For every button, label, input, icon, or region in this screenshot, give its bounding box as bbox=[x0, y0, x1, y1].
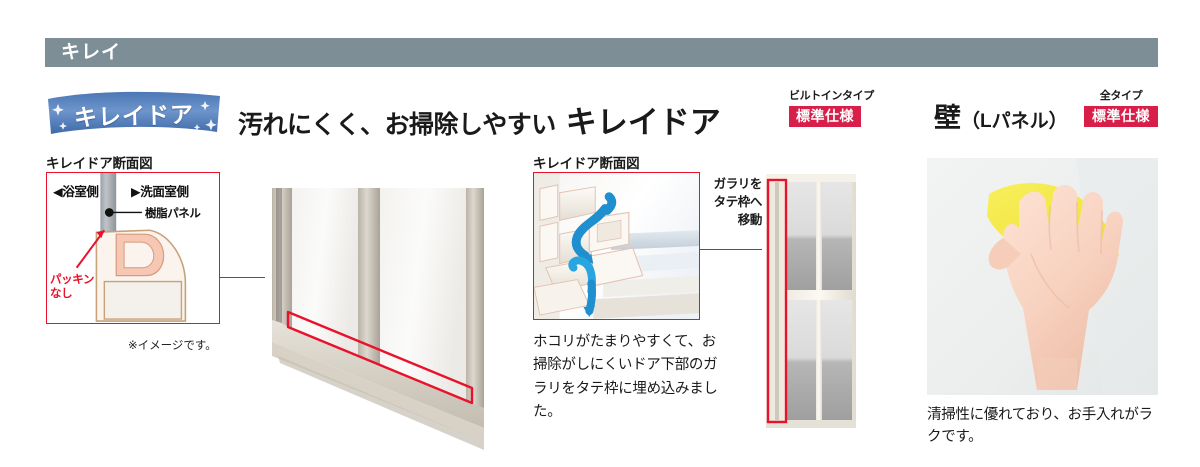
folding-door-illustration bbox=[762, 168, 860, 432]
wall-section-heading: 壁 （Lパネル） bbox=[934, 96, 1068, 135]
door-cross-section-diagram: ◀浴室側 ▶洗面室側 樹脂パネル パッキンなし bbox=[46, 172, 220, 324]
wall-heading-main: 壁 bbox=[934, 96, 961, 135]
label-bathroom-side: ◀浴室側 bbox=[53, 181, 99, 200]
brochure-page: キレイ キレイドア 汚れにくく、お掃除しやすい キレイ bbox=[0, 0, 1200, 467]
kireidoor-logo-text: キレイドア bbox=[44, 86, 223, 143]
status-badge-standard-spec-2: 標準仕様 bbox=[1084, 106, 1158, 127]
middle-diagram-caption: キレイドア断面図 bbox=[533, 152, 639, 172]
image-disclaimer-note: ※イメージです。 bbox=[128, 337, 217, 353]
door-illustration bbox=[258, 160, 516, 455]
label-washroom-side: ▶洗面室側 bbox=[131, 181, 189, 200]
middle-body-text: ホコリがたまりやすくて、お掃除がしにくいドア下部のガラリをタテ枠に埋め込みました… bbox=[533, 331, 729, 425]
headline-emphasis: キレイドア bbox=[566, 97, 721, 142]
label-no-packing: パッキンなし bbox=[50, 273, 94, 302]
door-photo bbox=[258, 160, 516, 455]
gallery-move-note: ガラリをタテ枠へ移動 bbox=[702, 175, 762, 229]
label-resin-panel: 樹脂パネル bbox=[145, 205, 201, 221]
status-badge-standard-spec-1: 標準仕様 bbox=[789, 106, 861, 127]
page-headline: 汚れにくく、お掃除しやすい キレイドア bbox=[238, 97, 721, 142]
hand-sponge-illustration bbox=[927, 158, 1158, 395]
headline-lead: 汚れにくく、お掃除しやすい bbox=[238, 105, 556, 141]
wall-photo-caption: 清掃性に優れており、お手入れがラクです。 bbox=[927, 404, 1165, 449]
badge-all-type: 全タイプ 標準仕様 bbox=[1084, 90, 1158, 127]
wall-cleaning-photo bbox=[927, 158, 1158, 395]
section-banner-title: キレイ bbox=[45, 43, 121, 62]
airflow-illustration bbox=[534, 173, 699, 319]
badge-kicker-built-in: ビルトインタイプ bbox=[789, 90, 861, 103]
gallery-cross-section-diagram bbox=[533, 172, 700, 320]
badge-kicker-all-type: 全タイプ bbox=[1084, 90, 1158, 103]
badge-built-in-type: ビルトインタイプ 標準仕様 bbox=[789, 90, 861, 127]
left-diagram-caption: キレイドア断面図 bbox=[46, 152, 152, 172]
kireidoor-logo: キレイドア bbox=[45, 88, 223, 140]
connector-line-middle bbox=[700, 249, 762, 250]
section-banner: キレイ bbox=[45, 38, 1158, 67]
folding-door-photo bbox=[762, 168, 860, 432]
wall-heading-sub: （Lパネル） bbox=[961, 106, 1068, 133]
